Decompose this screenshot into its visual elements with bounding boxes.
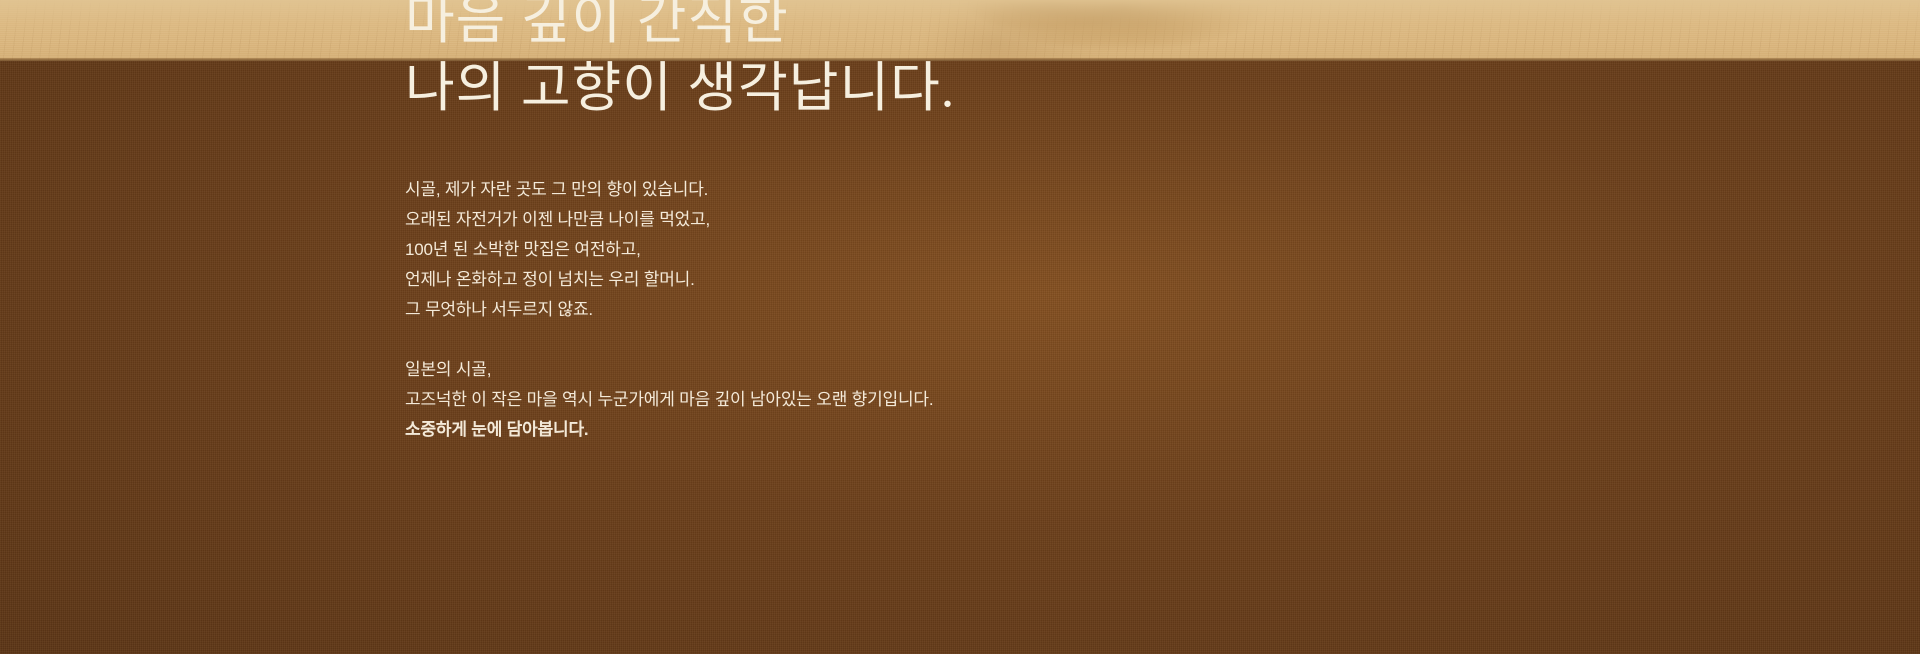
content-column: 마음 깊이 간직한 나의 고향이 생각납니다. 시골, 제가 자란 곳도 그 만… (405, 0, 1505, 128)
paragraph-spacer (405, 325, 1505, 355)
body-line: 그 무엇하나 서두르지 않죠. (405, 295, 1505, 325)
paragraph-hometown: 시골, 제가 자란 곳도 그 만의 향이 있습니다. 오래된 자전거가 이젠 나… (405, 175, 1505, 325)
body-copy: 시골, 제가 자란 곳도 그 만의 향이 있습니다. 오래된 자전거가 이젠 나… (405, 175, 1505, 445)
body-line: 언제나 온화하고 정이 넘치는 우리 할머니. (405, 265, 1505, 295)
body-line: 오래된 자전거가 이젠 나만큼 나이를 먹었고, (405, 205, 1505, 235)
headline-line-1: 마음 깊이 간직한 (405, 0, 1505, 52)
closing-line: 소중하게 눈에 담아봅니다. (405, 415, 1505, 445)
body-line: 100년 된 소박한 맛집은 여전하고, (405, 235, 1505, 265)
page-title: 마음 깊이 간직한 나의 고향이 생각납니다. (405, 0, 1505, 128)
body-line: 시골, 제가 자란 곳도 그 만의 향이 있습니다. (405, 175, 1505, 205)
paragraph-japan-village: 일본의 시골, 고즈넉한 이 작은 마을 역시 누군가에게 마음 깊이 남아있는… (405, 355, 1505, 445)
promo-page: 마음 깊이 간직한 나의 고향이 생각납니다. 시골, 제가 자란 곳도 그 만… (0, 0, 1920, 654)
body-line: 일본의 시골, (405, 355, 1505, 385)
body-line: 고즈넉한 이 작은 마을 역시 누군가에게 마음 깊이 남아있는 오랜 향기입니… (405, 385, 1505, 415)
headline-line-2: 나의 고향이 생각납니다. (405, 56, 1505, 120)
